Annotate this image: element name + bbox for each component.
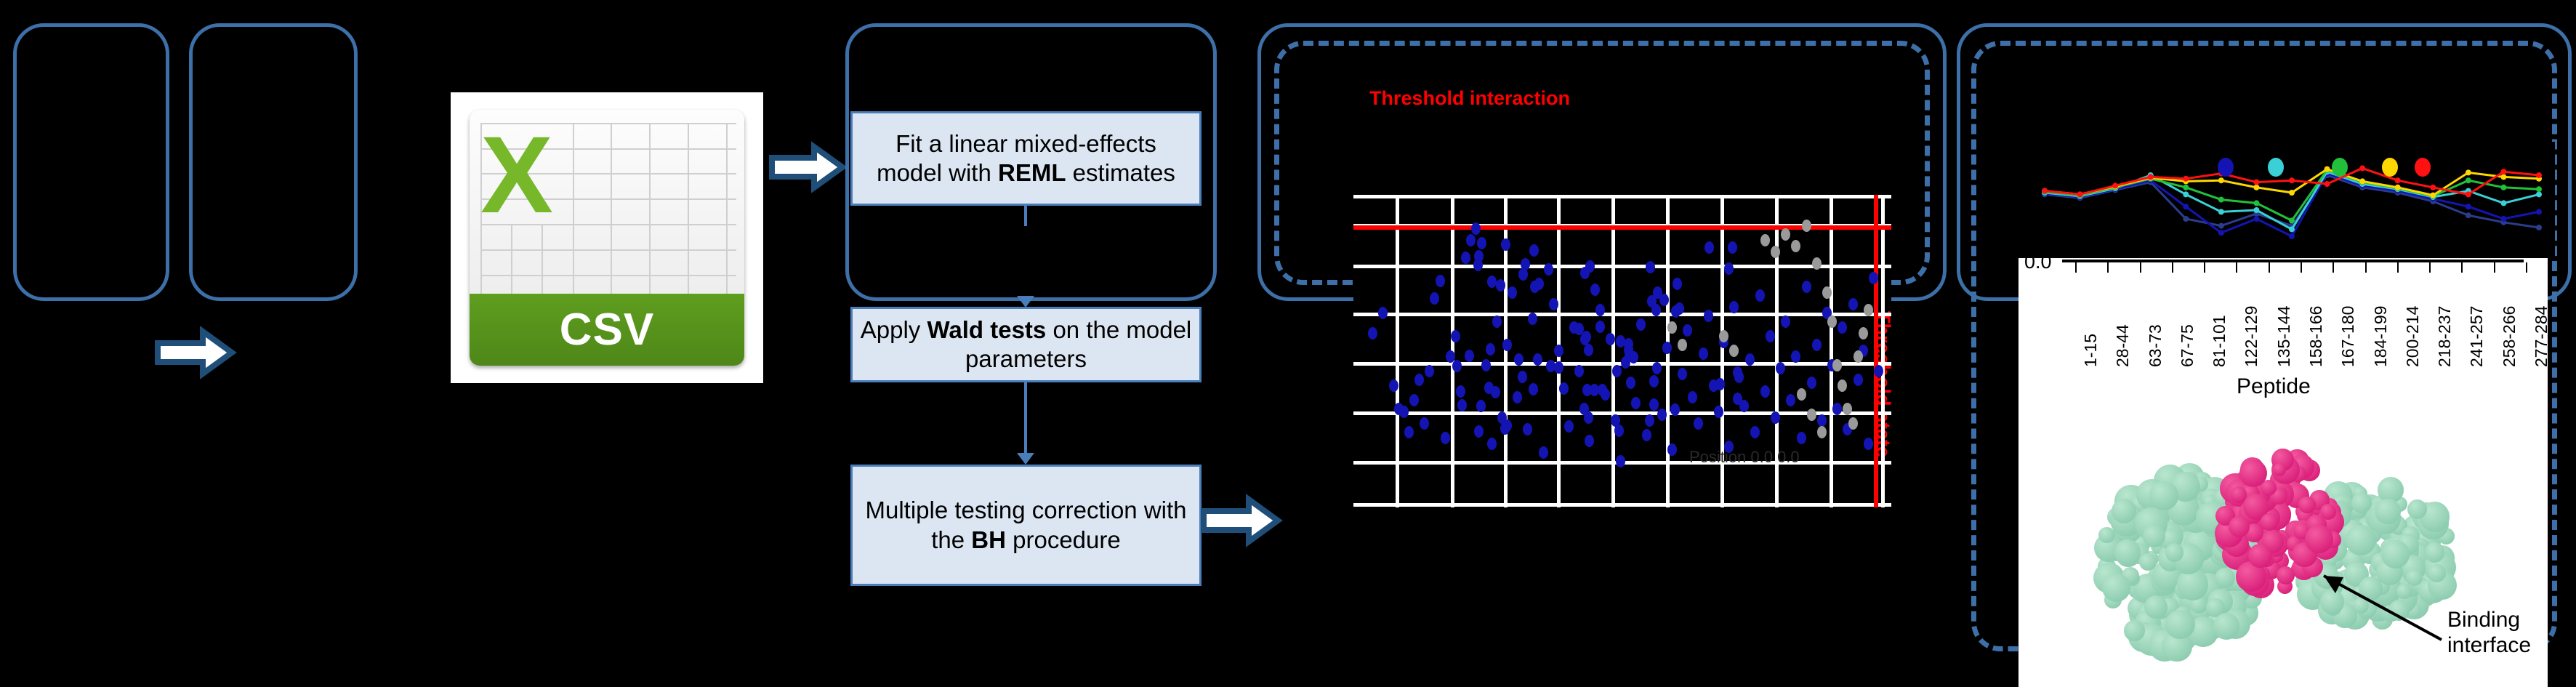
scatter-point <box>1585 260 1595 273</box>
scatter-point <box>1864 304 1873 316</box>
scatter-point <box>1729 345 1739 357</box>
peptide-tick-label: 241-257 <box>2467 306 2487 367</box>
protein-surface-blob <box>2425 542 2444 562</box>
scatter-point <box>1848 417 1858 430</box>
protein-surface-blob <box>2305 525 2333 553</box>
process-step-bh-text: Multiple testing correction with the BH … <box>860 496 1192 555</box>
scatter-points-layer <box>1353 195 1891 507</box>
scatter-point <box>1492 316 1502 328</box>
scatter-point <box>1678 339 1687 351</box>
process-step-bh[interactable]: Multiple testing correction with the BH … <box>850 465 1202 586</box>
scatter-point <box>1518 268 1528 281</box>
scatter-point <box>1564 420 1574 433</box>
process-step-reml[interactable]: Fit a linear mixed-effects model with RE… <box>850 111 1202 206</box>
peptide-tick-label: 28-44 <box>2113 324 2133 367</box>
scatter-point <box>1704 241 1714 254</box>
peptide-axis-card: 0.0 <box>2018 258 2548 294</box>
scatter-point <box>1399 406 1409 418</box>
scatter-point <box>1817 426 1827 438</box>
scatter-point <box>1528 313 1537 325</box>
process-step-wald-text: Apply Wald tests on the model parameters <box>860 316 1192 374</box>
csv-icon-label: CSV <box>560 304 654 355</box>
peptide-tick-label: 122-129 <box>2242 306 2261 367</box>
protein-surface-blob <box>2098 527 2114 543</box>
scatter-point <box>1745 353 1755 366</box>
csv-file-icon: X CSV <box>451 92 763 383</box>
arrow-input-to-csv <box>155 327 235 378</box>
scatter-point <box>1616 455 1625 467</box>
protein-surface-blob <box>2346 525 2376 555</box>
scatter-point <box>1631 397 1641 409</box>
scatter-point <box>1760 385 1770 398</box>
scatter-point <box>1667 443 1677 456</box>
scatter-point <box>1574 365 1584 377</box>
scatter-point <box>1508 286 1517 299</box>
scatter-point <box>1832 403 1842 415</box>
scatter-point <box>1452 360 1462 372</box>
peptide-axis-tick <box>2204 262 2205 273</box>
peptide-axis-title: Peptide <box>2237 374 2311 399</box>
peptide-tick-label: 63-73 <box>2146 324 2165 367</box>
scatter-point <box>1523 423 1532 435</box>
scatter-point <box>1456 385 1465 398</box>
peptide-axis-tick <box>2526 262 2527 273</box>
peptide-axis-tick <box>2461 262 2463 273</box>
protein-structure-card: Binding interface <box>2018 407 2548 687</box>
scatter-point <box>1491 386 1500 398</box>
scatter-point <box>1496 279 1505 292</box>
connector-reml-to-wald <box>1024 206 1027 226</box>
scatter-point <box>1404 426 1414 438</box>
scatter-point <box>1465 350 1474 362</box>
input-data-box[interactable] <box>13 23 169 301</box>
scatter-point <box>1549 298 1558 310</box>
scatter-point <box>1590 384 1599 396</box>
protein-surface-blob <box>2375 499 2400 524</box>
scatter-point <box>1760 234 1770 246</box>
peptide-axis-tick <box>2429 262 2431 273</box>
scatter-point <box>1853 350 1863 363</box>
scatter-point <box>1864 438 1873 450</box>
scatter-point <box>1518 371 1527 383</box>
peptide-tick-label: 167-180 <box>2338 306 2358 367</box>
scatter-point <box>1481 359 1491 371</box>
peptide-axis-tick <box>2172 262 2173 273</box>
scatter-point <box>1662 342 1672 354</box>
peptide-tick-label: 81-101 <box>2210 315 2229 367</box>
protein-surface-blob <box>2165 610 2194 639</box>
scatter-point <box>1646 261 1655 273</box>
scatter-point <box>1678 368 1687 380</box>
scatter-point <box>1729 301 1739 313</box>
scatter-point <box>1671 305 1681 318</box>
peptide-tick-label: 258-266 <box>2500 306 2519 367</box>
scatter-point <box>1544 263 1553 276</box>
scatter-point <box>1502 339 1512 351</box>
scatter-point <box>1554 345 1563 357</box>
scatter-point <box>1719 330 1728 342</box>
peptide-axis-tick <box>2140 262 2141 273</box>
scatter-point <box>1771 411 1780 424</box>
peptide-axis-tick <box>2301 262 2302 273</box>
protein-surface-blob <box>2231 486 2247 502</box>
scatter-point <box>1659 294 1669 306</box>
scatter-point <box>1688 391 1697 403</box>
peptide-legend-dot <box>2415 158 2431 177</box>
protein-surface-blob <box>2277 566 2295 584</box>
scatter-point <box>1874 365 1883 377</box>
protein-surface-blob <box>2165 543 2183 561</box>
scatter-point <box>1817 414 1827 427</box>
protein-surface-blob <box>2388 600 2410 621</box>
scatter-point <box>1869 272 1878 284</box>
scatter-point <box>1474 250 1484 262</box>
peptide-legend-dot <box>2382 158 2398 177</box>
scatter-point <box>1652 362 1662 374</box>
peptide-axis-tick <box>2365 262 2367 273</box>
csv-icon-body: X CSV <box>470 110 744 366</box>
peptide-legend-dot <box>2268 158 2284 177</box>
scatter-point <box>1728 241 1737 254</box>
scatter-point <box>1595 304 1605 316</box>
scatter-point <box>1715 378 1725 390</box>
connector-wald-to-bh <box>1024 382 1027 454</box>
scatter-point <box>1733 366 1742 379</box>
scatter-point <box>1797 388 1806 401</box>
scatter-point <box>1649 375 1659 387</box>
scatter-point <box>1513 391 1522 403</box>
scatter-point <box>1420 417 1429 430</box>
peptide-tick-label: 277-284 <box>2532 306 2548 367</box>
peptide-tick-label: 1-15 <box>2081 334 2101 367</box>
scatter-point <box>1699 347 1708 360</box>
scatter-point <box>1606 333 1615 345</box>
scatter-point <box>1673 278 1682 290</box>
peptide-axis-tick <box>2075 262 2077 273</box>
peptide-legend-dot <box>2218 158 2234 177</box>
protein-surface-blob <box>2149 481 2178 510</box>
csv-file-box[interactable] <box>189 23 358 301</box>
scatter-point <box>1651 304 1661 316</box>
peptide-tick-label: 184-199 <box>2371 306 2391 367</box>
scatter-point <box>1667 321 1677 334</box>
scatter-point <box>1750 426 1760 438</box>
scatter-point <box>1471 222 1481 235</box>
scatter-point <box>1584 411 1593 424</box>
scatter-point <box>1838 321 1847 334</box>
scatter-point <box>1409 394 1419 406</box>
scatter-point <box>1802 220 1811 232</box>
peptide-tick-label: 67-75 <box>2178 324 2197 367</box>
scatter-point <box>1554 361 1563 374</box>
binding-interface-annotation: Binding interface <box>2447 607 2531 659</box>
protein-surface-blob <box>2406 569 2423 587</box>
peptide-intensity-plot <box>2032 142 2555 258</box>
peptide-y-tick-label: 0.0 <box>2024 258 2052 273</box>
scatter-point <box>1683 324 1692 337</box>
scatter-point <box>1781 316 1790 328</box>
scatter-point <box>1595 321 1605 333</box>
scatter-point <box>1546 360 1555 372</box>
protein-surface-blob <box>2102 574 2131 603</box>
scatter-point <box>1838 379 1847 392</box>
scatter-point <box>1812 339 1822 351</box>
protein-surface-blob <box>2144 595 2168 619</box>
scatter-point <box>1529 383 1538 395</box>
scatter-point <box>1539 446 1548 459</box>
scatter-point <box>1766 330 1775 342</box>
scatter-point <box>1791 240 1800 252</box>
scatter-point <box>1590 284 1600 296</box>
binding-interface-line2: interface <box>2447 632 2531 658</box>
scatter-point <box>1807 377 1816 389</box>
scatter-point <box>1598 384 1607 396</box>
scatter-point <box>1714 406 1723 418</box>
scatter-point <box>1848 298 1858 310</box>
peptide-axis-tick <box>2333 262 2334 273</box>
pipeline-diagram: X CSV Fit a linear mixed-effects model w… <box>0 0 2576 687</box>
process-step-wald[interactable]: Apply Wald tests on the model parameters <box>850 307 1202 382</box>
protein-surface-blob <box>2114 539 2141 566</box>
scatter-point <box>1724 262 1734 275</box>
scatter-point <box>1614 425 1624 437</box>
scatter-point <box>1533 353 1542 366</box>
scatter-point <box>1457 399 1467 411</box>
csv-icon-label-band: CSV <box>470 294 744 366</box>
scatter-point <box>1771 246 1780 258</box>
scatter-point <box>1812 257 1822 270</box>
scatter-point <box>1514 353 1524 366</box>
scatter-point <box>1584 344 1593 356</box>
scatter-point <box>1807 409 1816 421</box>
protein-surface-blob <box>2215 568 2235 588</box>
scatter-point <box>1461 252 1470 264</box>
scatter-point <box>1755 289 1765 302</box>
scatter-point <box>1786 394 1795 406</box>
scatter-point <box>1476 400 1486 412</box>
scatter-point <box>1636 318 1646 331</box>
scatter-point <box>1414 374 1424 386</box>
peptide-legend-dot <box>2332 158 2348 177</box>
csv-file-icon-frame: X CSV <box>451 92 763 383</box>
protein-surface-blob <box>2320 590 2345 614</box>
scatter-point <box>1530 281 1539 293</box>
protein-surface-blob <box>2213 613 2239 639</box>
threshold-scatter-plot: Threshold interaction Threshold state Po… <box>1353 195 1891 507</box>
protein-surface-blob <box>2351 493 2372 513</box>
scatter-point <box>1441 432 1450 444</box>
peptide-tick-label: 158-166 <box>2306 306 2326 367</box>
scatter-point <box>1430 292 1439 305</box>
peptide-legend-dots <box>2032 142 2555 258</box>
scatter-point <box>1657 409 1667 421</box>
scatter-point <box>1670 403 1680 416</box>
peptide-tick-label: 200-214 <box>2403 306 2423 367</box>
scatter-point <box>1832 359 1842 371</box>
scatter-point <box>1466 234 1476 246</box>
scatter-point <box>1704 310 1713 322</box>
connector-arrowhead-wald <box>1017 296 1034 308</box>
peptide-axis-tick <box>2107 262 2109 273</box>
peptide-axis-tick <box>2236 262 2237 273</box>
scatter-point <box>1694 417 1703 430</box>
peptide-tick-label: 135-144 <box>2274 306 2294 367</box>
arrow-csv-to-model <box>769 142 845 192</box>
scatter-point <box>1853 374 1863 386</box>
scatter-point <box>1822 286 1832 299</box>
scatter-point <box>1451 330 1460 342</box>
scatter-point <box>1500 422 1510 435</box>
scatter-point <box>1486 343 1495 355</box>
scatter-point <box>1487 438 1497 450</box>
scatter-point <box>1797 432 1806 444</box>
arrow-stats-to-results <box>1201 494 1281 547</box>
threshold-interaction-label: Threshold interaction <box>1369 87 1570 110</box>
scatter-point <box>1425 365 1434 377</box>
binding-interface-line1: Binding <box>2447 607 2531 632</box>
scatter-point <box>1368 327 1377 340</box>
scatter-point <box>1501 238 1510 251</box>
peptide-axis-tick <box>2397 262 2399 273</box>
scatter-point <box>1781 228 1790 241</box>
scatter-point <box>1529 244 1539 257</box>
csv-icon-letter: X <box>480 120 579 235</box>
scatter-point <box>1436 275 1445 287</box>
scatter-point <box>1645 414 1654 427</box>
scatter-point <box>1776 362 1785 374</box>
scatter-point <box>1585 435 1594 447</box>
peptide-axis-tick <box>2494 262 2495 273</box>
peptide-tick-label: 218-237 <box>2435 306 2455 367</box>
scatter-point <box>1724 441 1734 453</box>
scatter-point <box>1649 398 1659 411</box>
scatter-point <box>1474 425 1484 438</box>
connector-arrowhead-bh <box>1017 453 1034 465</box>
protein-surface-blob <box>2124 620 2144 640</box>
scatter-point <box>1791 350 1800 363</box>
scatter-point <box>1626 377 1635 389</box>
scatter-point <box>1559 382 1569 395</box>
scatter-point <box>1843 403 1852 415</box>
scatter-point <box>1477 237 1486 249</box>
process-step-reml-text: Fit a linear mixed-effects model with RE… <box>860 129 1192 188</box>
protein-surface-blob <box>2298 497 2316 514</box>
peptide-axis-tick <box>2269 262 2270 273</box>
scatter-point <box>1612 365 1622 377</box>
scatter-point <box>1827 316 1837 328</box>
protein-surface-blob <box>2239 459 2267 487</box>
scatter-point <box>1642 429 1651 441</box>
scatter-point <box>1389 379 1398 392</box>
scatter-point <box>1802 281 1811 293</box>
scatter-point <box>1859 327 1868 340</box>
scatter-point <box>1378 307 1388 319</box>
